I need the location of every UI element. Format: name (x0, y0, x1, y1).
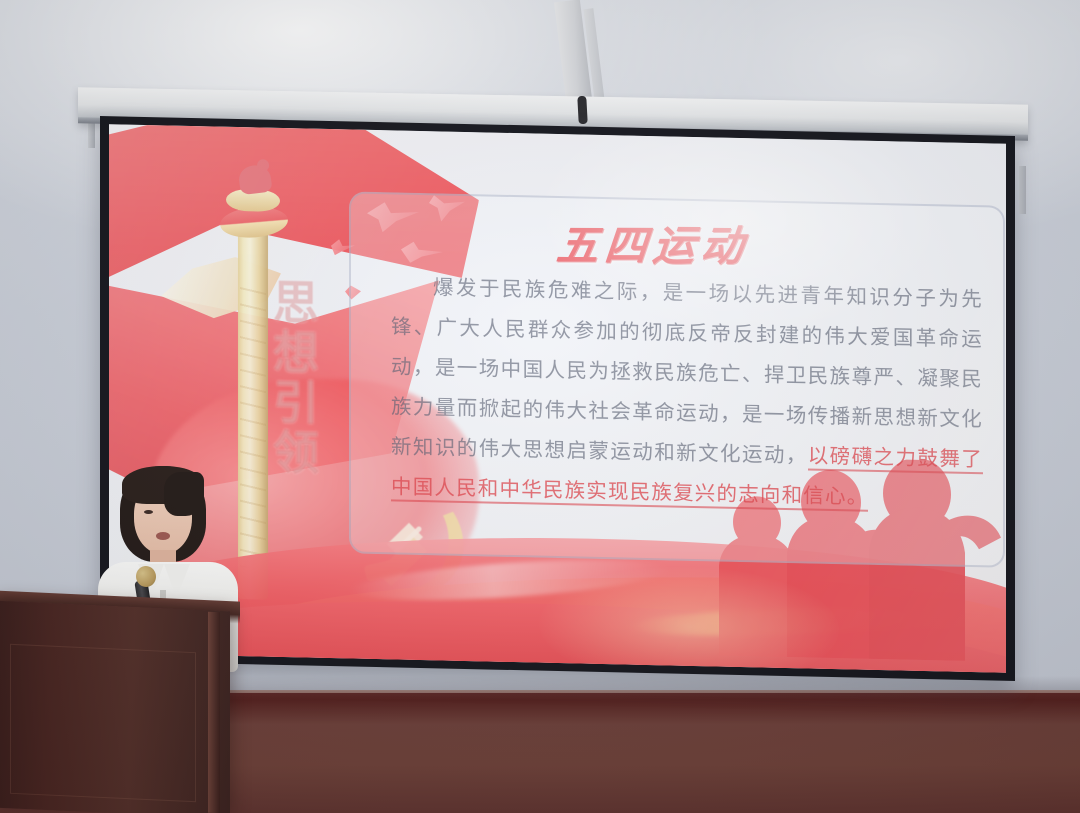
presenter-mouth (156, 532, 170, 540)
screen-bracket-right (1019, 166, 1026, 214)
lectern-front-panel (10, 644, 196, 802)
slide-title: 五四运动 (554, 212, 752, 274)
slide-body-intro: 爆发于民族危难之际，是一场以先进青年知识分子为先锋、广大人民群众参加的彻底反帝反… (391, 275, 983, 467)
slide-body-text: 爆发于民族危难之际，是一场以先进青年知识分子为先锋、广大人民群众参加的彻底反帝反… (391, 266, 983, 519)
screen-pull-knob[interactable] (577, 96, 587, 124)
lectern-side-edge (208, 612, 220, 813)
presenter-eye (144, 510, 153, 514)
presentation-scene: 思想引领 (0, 0, 1080, 813)
slide-watermark-vertical-text: 思想引领 (258, 277, 320, 478)
presenter-fringe (122, 466, 204, 504)
